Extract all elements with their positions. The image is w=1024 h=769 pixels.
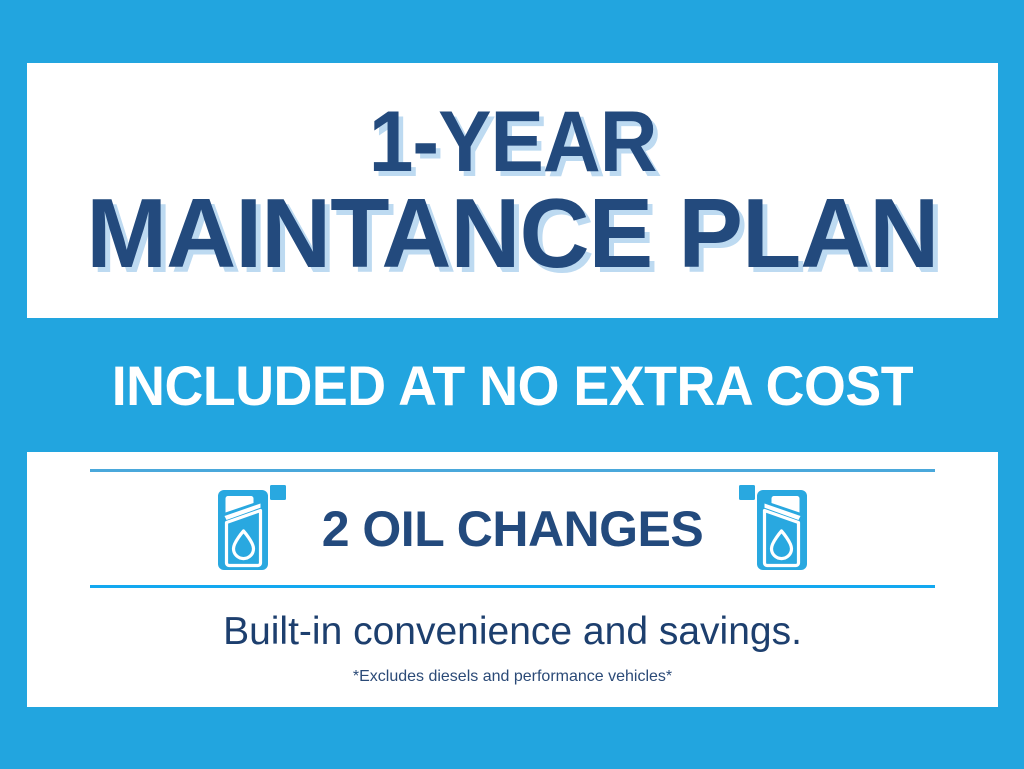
oil-canister-icon-right [737,483,811,575]
promo-poster: 1-YEAR MAINTANCE PLAN INCLUDED AT NO EXT… [0,0,1024,769]
disclaimer-text: *Excludes diesels and performance vehicl… [353,668,672,686]
headline-line-1: 1-YEAR [369,102,657,183]
subtitle-text: INCLUDED AT NO EXTRA COST [111,353,912,418]
headline-line-2: MAINTANCE PLAN [86,187,938,279]
tagline-text: Built-in convenience and savings. [223,610,802,654]
oil-canister-icon-left [214,483,288,575]
divider-bottom [90,585,935,588]
headline-card: 1-YEAR MAINTANCE PLAN [27,63,998,318]
detail-card: 2 OIL CHANGES Built-in convenience and s… [27,452,998,707]
offer-label: 2 OIL CHANGES [322,500,704,558]
subtitle-band: INCLUDED AT NO EXTRA COST [0,318,1024,452]
offer-row: 2 OIL CHANGES [90,472,935,585]
